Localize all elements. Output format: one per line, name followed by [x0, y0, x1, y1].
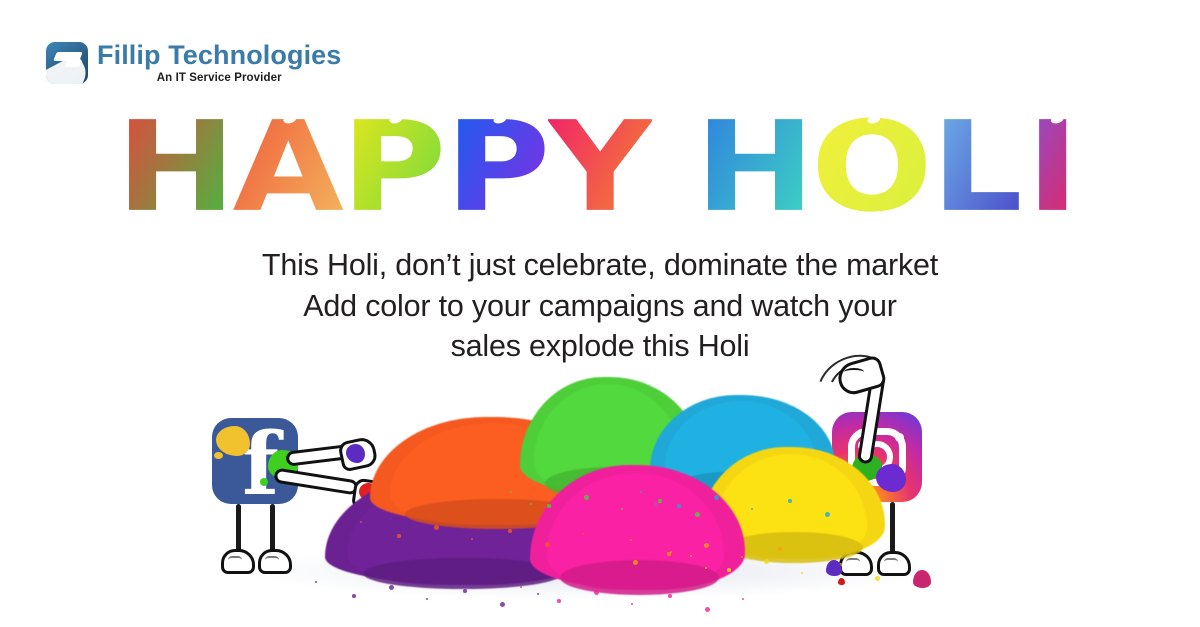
promo-message-line-1: This Holi, don’t just celebrate, dominat…: [0, 245, 1200, 286]
powder-speck: [690, 555, 692, 557]
headline-letter-3: P: [445, 105, 551, 229]
brand-tagline: An IT Service Provider: [157, 72, 282, 84]
powder-speck: [557, 599, 561, 603]
powder-speck: [778, 547, 782, 551]
red-droplet: [838, 578, 845, 585]
green-splat-drip-icon: [260, 478, 268, 486]
powder-speck: [530, 503, 532, 505]
powder-speck: [668, 594, 672, 598]
powder-speck: [547, 504, 551, 508]
powder-speck: [582, 533, 584, 535]
headline-letter-1: A: [232, 105, 343, 229]
yellow-splat-icon: [216, 426, 250, 456]
holi-promo-poster: Fillip Technologies An IT Service Provid…: [0, 0, 1200, 627]
powder-speck: [677, 504, 681, 508]
brand-name: Fillip Technologies: [97, 42, 341, 70]
powder-speck: [630, 539, 632, 541]
brand-logo[interactable]: Fillip Technologies An IT Service Provid…: [46, 42, 341, 84]
facebook-right-shoe: [258, 549, 292, 574]
powder-speck: [788, 499, 792, 503]
powder-speck: [510, 491, 512, 493]
powder-speck: [742, 598, 744, 600]
powder-speck: [426, 598, 428, 600]
powder-speck: [471, 538, 473, 540]
powder-speck: [801, 572, 803, 574]
powder-speck: [352, 594, 356, 598]
holi-powder-scene: [0, 355, 1200, 627]
powder-speck: [463, 589, 467, 593]
facebook-left-shoe: [221, 549, 255, 574]
powder-speck: [705, 567, 707, 569]
brand-logo-text: Fillip Technologies An IT Service Provid…: [97, 42, 341, 84]
powder-speck: [397, 534, 401, 538]
facebook-icon[interactable]: f: [212, 418, 298, 504]
facebook-mascot[interactable]: f: [212, 418, 298, 504]
promo-message: This Holi, don’t just celebrate, dominat…: [0, 245, 1200, 367]
powder-speck: [315, 581, 317, 583]
powder-speck: [705, 607, 710, 612]
headline-letter-5: H: [695, 105, 815, 229]
thumb-detail-icon: [844, 368, 864, 376]
powder-speck: [670, 551, 672, 553]
fillip-logo-mark-icon: [46, 42, 88, 84]
purple-droplet: [826, 560, 842, 576]
powder-speck: [655, 503, 657, 505]
powder-speck: [360, 521, 362, 523]
headline-letter-4: Y: [548, 105, 652, 229]
promo-message-line-2: Add color to your campaigns and watch yo…: [0, 286, 1200, 327]
powder-speck: [520, 586, 522, 588]
powder-speck: [751, 508, 753, 510]
headline-letter-7: L: [931, 105, 1023, 229]
yellow-splat-drip-icon: [214, 452, 223, 459]
page-title: HAPPYHOLI: [0, 103, 1200, 228]
headline-letter-6: O: [811, 105, 933, 229]
powder-speck: [727, 568, 731, 572]
purple-powder-handful-icon: [346, 444, 365, 463]
instagram-dot-icon: [895, 433, 904, 442]
powder-speck: [500, 602, 505, 607]
powder-speck: [640, 491, 642, 493]
powder-speck: [631, 603, 633, 605]
instagram-right-shoe: [877, 551, 911, 576]
pink-droplet: [913, 570, 931, 588]
instagram-right-leg: [890, 502, 895, 558]
powder-speck: [537, 593, 539, 595]
purple-splat-icon: [876, 464, 906, 492]
powder-speck: [621, 508, 623, 510]
powder-speck: [508, 529, 512, 533]
headline-letter-0: H: [115, 105, 235, 229]
powder-speck: [658, 499, 662, 503]
headline-letter-2: P: [341, 105, 447, 229]
headline-letter-8: I: [1026, 105, 1080, 229]
powder-speck: [741, 556, 743, 558]
